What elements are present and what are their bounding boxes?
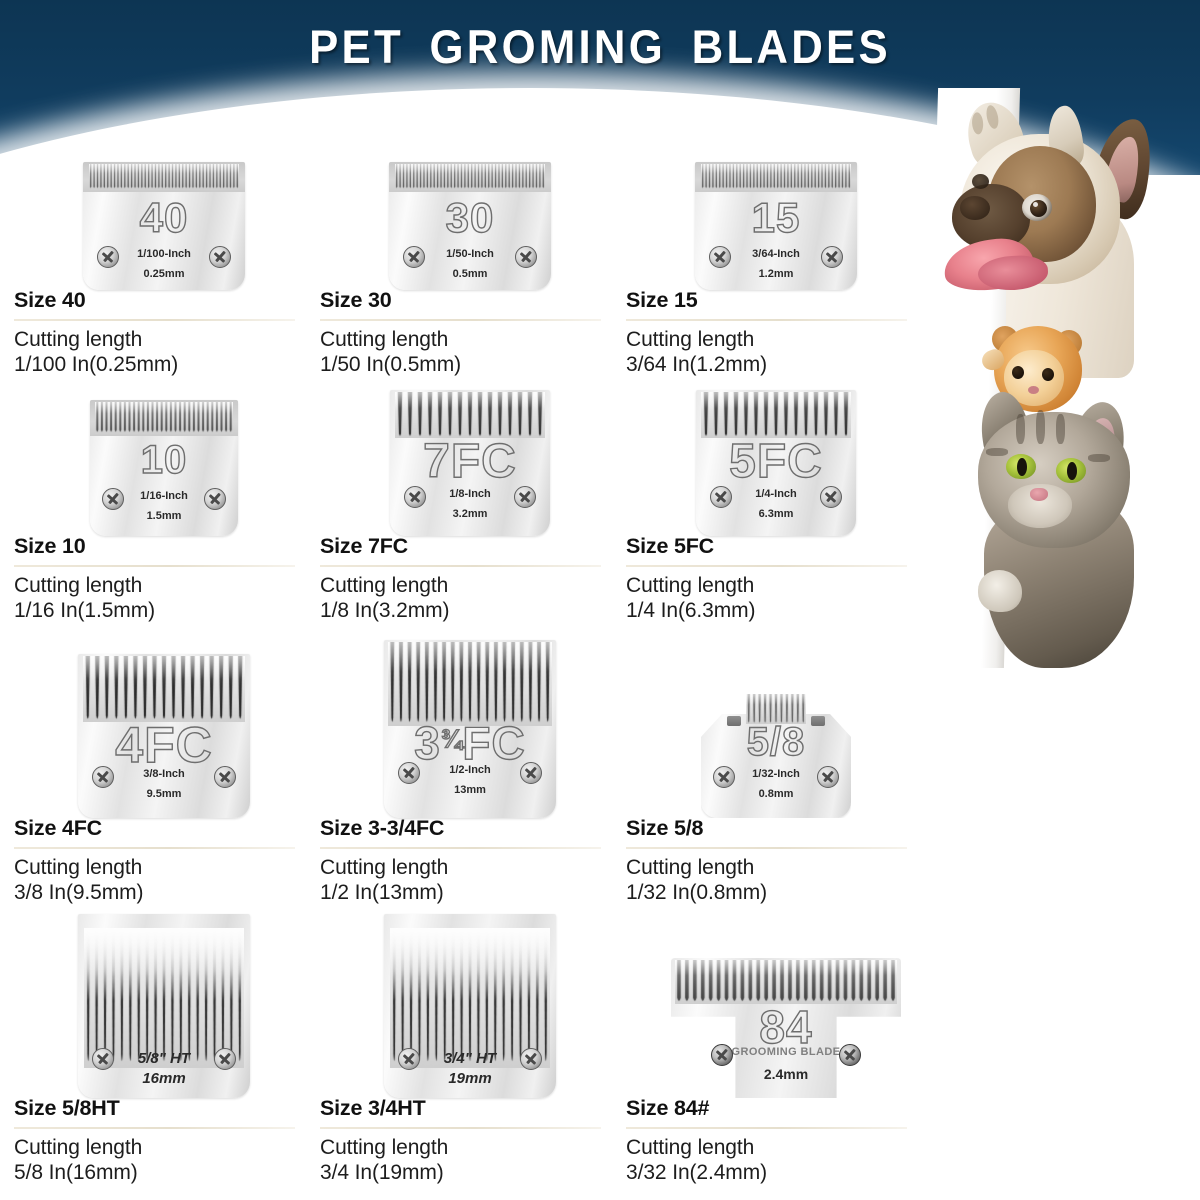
- blade-screw-left: [710, 486, 732, 508]
- blade-title: Size 7FC: [320, 536, 620, 558]
- blade-card[interactable]: 401/100-Inch0.25mmSize 40Cutting length1…: [14, 140, 314, 290]
- blade-screw-left: [92, 766, 114, 788]
- blade-screw-right: [817, 766, 839, 788]
- blade-card[interactable]: 153/64-Inch1.2mmSize 15Cutting length3/6…: [626, 140, 926, 290]
- blade-card[interactable]: 5/81/32-Inch0.8mmSize 5/8Cutting length1…: [626, 640, 926, 818]
- divider: [14, 319, 295, 321]
- blade-teeth: [701, 392, 851, 438]
- blade-screw-right: [514, 486, 536, 508]
- divider: [626, 319, 907, 321]
- blade-image: 101/16-Inch1.5mm: [14, 386, 314, 536]
- cutting-length-label: Cutting length: [320, 573, 620, 599]
- blade-size-engraving: 7FC: [390, 434, 550, 489]
- blade-mm-label: 0.5mm: [389, 268, 551, 280]
- blade-screw-left: [97, 246, 119, 268]
- cutting-length-label: Cutting length: [14, 1135, 314, 1161]
- blade-image: 4FC3/8-Inch9.5mm: [14, 640, 314, 818]
- blade-card[interactable]: 5FC1/4-Inch6.3mmSize 5FCCutting length1/…: [626, 386, 926, 536]
- blade-title: Size 5FC: [626, 536, 926, 558]
- blade-title: Size 84#: [626, 1098, 926, 1120]
- blade-screw-left: [713, 766, 735, 788]
- blade-teeth: [84, 928, 244, 1068]
- blade-mm-label: 6.3mm: [696, 508, 856, 520]
- blade-title: Size 5/8: [626, 818, 926, 840]
- blade-screw-right: [820, 486, 842, 508]
- blade-card[interactable]: 7FC1/8-Inch3.2mmSize 7FCCutting length1/…: [320, 386, 620, 536]
- cat-illustration: [956, 388, 1196, 668]
- blade-screw-right: [209, 246, 231, 268]
- blade-cutting-length: Cutting length1/8 In(3.2mm): [320, 573, 620, 624]
- blade-screw-left: [711, 1044, 733, 1066]
- blade-teeth: [83, 656, 245, 722]
- blade-info: Size 84#Cutting length3/32 In(2.4mm): [626, 1098, 926, 1186]
- cutting-length-value: 1/16 In(1.5mm): [14, 598, 314, 624]
- blade-screw-right: [204, 488, 226, 510]
- blade-mm-label: 13mm: [384, 784, 556, 796]
- blade-screw-right: [214, 766, 236, 788]
- divider: [320, 319, 601, 321]
- blade-cutting-length: Cutting length5/8 In(16mm): [14, 1135, 314, 1186]
- blade-teeth: [395, 392, 545, 438]
- cutting-length-value: 5/8 In(16mm): [14, 1160, 314, 1186]
- cutting-length-value: 1/100 In(0.25mm): [14, 352, 314, 378]
- blade-mm-label: 2.4mm: [671, 1066, 901, 1082]
- blade-info: Size 3/4HTCutting length3/4 In(19mm): [320, 1098, 620, 1186]
- blade-teeth: [95, 402, 233, 434]
- blade-info: Size 7FCCutting length1/8 In(3.2mm): [320, 536, 620, 624]
- divider: [626, 565, 907, 567]
- cutting-length-value: 3/64 In(1.2mm): [626, 352, 926, 378]
- cutting-length-label: Cutting length: [320, 855, 620, 881]
- blade-cutting-length: Cutting length1/32 In(0.8mm): [626, 855, 926, 906]
- blade-screw-right: [839, 1044, 861, 1066]
- blade-screw-left: [403, 246, 425, 268]
- blade-mm-label: 3.2mm: [390, 508, 550, 520]
- blade-screw-left: [102, 488, 124, 510]
- blade-image: 5/8" HT16mm: [14, 902, 314, 1098]
- blade-teeth: [395, 164, 545, 190]
- cutting-length-label: Cutting length: [14, 855, 314, 881]
- blade-info: Size 5FCCutting length1/4 In(6.3mm): [626, 536, 926, 624]
- divider: [320, 565, 601, 567]
- blade-mm-label: 0.8mm: [701, 788, 851, 800]
- blade-card[interactable]: 3/4" HT19mmSize 3/4HTCutting length3/4 I…: [320, 902, 620, 1098]
- blade-title: Size 4FC: [14, 818, 314, 840]
- blade-cutting-length: Cutting length1/2 In(13mm): [320, 855, 620, 906]
- cutting-length-label: Cutting length: [320, 1135, 620, 1161]
- blade-teeth: [390, 928, 550, 1068]
- blade-title: Size 30: [320, 290, 620, 312]
- cutting-length-label: Cutting length: [14, 573, 314, 599]
- blade-teeth: [89, 164, 239, 190]
- divider: [320, 847, 601, 849]
- blade-screw-right: [520, 1048, 542, 1070]
- pet-photo: [930, 88, 1200, 668]
- blade-screw-left: [709, 246, 731, 268]
- blade-screw-right: [520, 762, 542, 784]
- cutting-length-label: Cutting length: [626, 327, 926, 353]
- cutting-length-label: Cutting length: [14, 327, 314, 353]
- blade-image: 7FC1/8-Inch3.2mm: [320, 386, 620, 536]
- blade-info: Size 5/8HTCutting length5/8 In(16mm): [14, 1098, 314, 1186]
- blade-teeth: [701, 164, 851, 190]
- page-title: PET GROMING BLADES: [42, 19, 1158, 74]
- blade-info: Size 4FCCutting length3/8 In(9.5mm): [14, 818, 314, 906]
- blade-card[interactable]: 101/16-Inch1.5mmSize 10Cutting length1/1…: [14, 386, 314, 536]
- blade-info: Size 10Cutting length1/16 In(1.5mm): [14, 536, 314, 624]
- blade-card[interactable]: 5/8" HT16mmSize 5/8HTCutting length5/8 I…: [14, 902, 314, 1098]
- blade-image: 5FC1/4-Inch6.3mm: [626, 386, 926, 536]
- divider: [14, 847, 295, 849]
- cutting-length-label: Cutting length: [626, 573, 926, 599]
- blade-screw-left: [398, 1048, 420, 1070]
- blade-size-engraving: 5FC: [696, 434, 856, 489]
- blade-mm-label: 0.25mm: [83, 268, 245, 280]
- blade-cutting-length: Cutting length1/50 In(0.5mm): [320, 327, 620, 378]
- blade-image: 5/81/32-Inch0.8mm: [626, 640, 926, 818]
- cutting-length-value: 3/4 In(19mm): [320, 1160, 620, 1186]
- divider: [626, 1127, 907, 1129]
- blade-mm-label: 16mm: [78, 1070, 250, 1087]
- blade-size-engraving: 5/8: [701, 720, 851, 765]
- blade-info: Size 3-3/4FCCutting length1/2 In(13mm): [320, 818, 620, 906]
- blade-image: 153/64-Inch1.2mm: [626, 140, 926, 290]
- blade-cutting-length: Cutting length3/4 In(19mm): [320, 1135, 620, 1186]
- blade-cutting-length: Cutting length1/4 In(6.3mm): [626, 573, 926, 624]
- blade-image: 301/50-Inch0.5mm: [320, 140, 620, 290]
- blade-screw-right: [515, 246, 537, 268]
- blade-image: 3/4" HT19mm: [320, 902, 620, 1098]
- divider: [626, 847, 907, 849]
- blade-card[interactable]: 4FC3/8-Inch9.5mmSize 4FCCutting length3/…: [14, 640, 314, 818]
- blade-cutting-length: Cutting length1/16 In(1.5mm): [14, 573, 314, 624]
- cutting-length-value: 1/8 In(3.2mm): [320, 598, 620, 624]
- blade-mm-label: 9.5mm: [78, 788, 250, 800]
- blade-image: 84GROOMING BLADE2.4mm: [626, 902, 926, 1098]
- blade-title: Size 15: [626, 290, 926, 312]
- blade-image: 401/100-Inch0.25mm: [14, 140, 314, 290]
- blade-teeth: [675, 960, 897, 1004]
- blade-mm-label: 1.2mm: [695, 268, 857, 280]
- cutting-length-value: 3/32 In(2.4mm): [626, 1160, 926, 1186]
- divider: [14, 565, 295, 567]
- blade-size-engraving: 15: [695, 194, 857, 242]
- blade-card[interactable]: 301/50-Inch0.5mmSize 30Cutting length1/5…: [320, 140, 620, 290]
- blade-screw-left: [404, 486, 426, 508]
- blade-notch-right: [811, 716, 825, 726]
- cutting-length-value: 1/4 In(6.3mm): [626, 598, 926, 624]
- blade-info: Size 15Cutting length3/64 In(1.2mm): [626, 290, 926, 378]
- blade-screw-right: [821, 246, 843, 268]
- cutting-length-label: Cutting length: [626, 1135, 926, 1161]
- blade-cutting-length: Cutting length1/100 In(0.25mm): [14, 327, 314, 378]
- blade-title: Size 40: [14, 290, 314, 312]
- cutting-length-label: Cutting length: [626, 855, 926, 881]
- cutting-length-label: Cutting length: [320, 327, 620, 353]
- blade-title: Size 3-3/4FC: [320, 818, 620, 840]
- blade-title: Size 5/8HT: [14, 1098, 314, 1120]
- blade-info: Size 5/8Cutting length1/32 In(0.8mm): [626, 818, 926, 906]
- blade-cutting-length: Cutting length3/64 In(1.2mm): [626, 327, 926, 378]
- blade-image: 3¾FC1/2-Inch13mm: [320, 640, 620, 818]
- blade-screw-left: [398, 762, 420, 784]
- blade-notch-left: [727, 716, 741, 726]
- cutting-length-value: 1/50 In(0.5mm): [320, 352, 620, 378]
- blade-info: Size 40Cutting length1/100 In(0.25mm): [14, 290, 314, 378]
- cat-paw-icon: [978, 570, 1022, 612]
- blade-cutting-length: Cutting length3/32 In(2.4mm): [626, 1135, 926, 1186]
- blade-inch-label: GROOMING BLADE: [671, 1046, 901, 1058]
- blade-info: Size 30Cutting length1/50 In(0.5mm): [320, 290, 620, 378]
- blade-teeth: [388, 642, 552, 726]
- blade-cutting-length: Cutting length3/8 In(9.5mm): [14, 855, 314, 906]
- blade-title: Size 10: [14, 536, 314, 558]
- blade-size-engraving: 10: [90, 438, 238, 483]
- blade-size-engraving: 40: [83, 194, 245, 242]
- blade-card[interactable]: 3¾FC1/2-Inch13mmSize 3-3/4FCCutting leng…: [320, 640, 620, 818]
- blade-size-engraving: 30: [389, 194, 551, 242]
- blade-card[interactable]: 84GROOMING BLADE2.4mmSize 84#Cutting len…: [626, 902, 926, 1098]
- divider: [320, 1127, 601, 1129]
- blade-mm-label: 19mm: [384, 1070, 556, 1087]
- blade-title: Size 3/4HT: [320, 1098, 620, 1120]
- blade-screw-left: [92, 1048, 114, 1070]
- divider: [14, 1127, 295, 1129]
- blade-mm-label: 1.5mm: [90, 510, 238, 522]
- blade-screw-right: [214, 1048, 236, 1070]
